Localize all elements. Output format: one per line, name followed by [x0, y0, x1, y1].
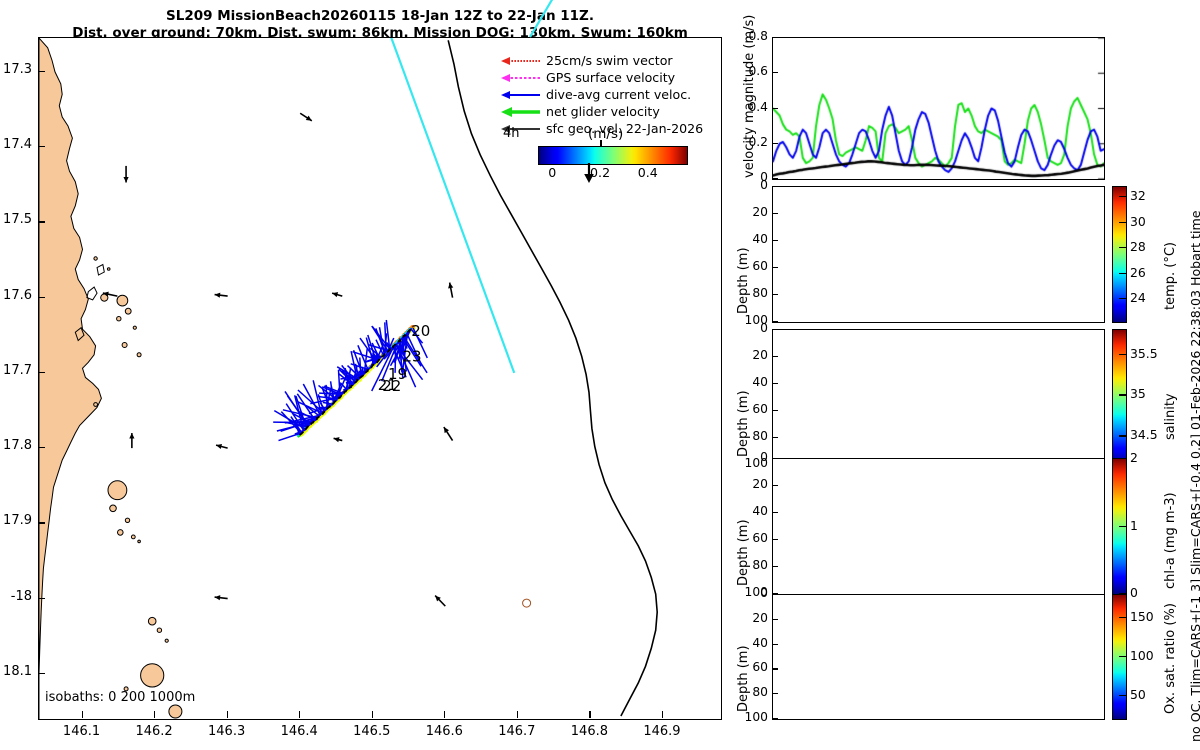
- chlorophyll-y-tickmark: [772, 539, 778, 540]
- geostrophic-velocity-arrow: [123, 166, 128, 183]
- salinity-y-tickmark: [772, 383, 778, 384]
- map-colorbar-tick: 0.4: [635, 165, 661, 180]
- map-y-tick: 17.8: [0, 438, 32, 453]
- salinity-y-tick: 80: [735, 429, 768, 443]
- map-y-tick: 17.5: [0, 212, 32, 227]
- island: [125, 308, 131, 314]
- map-y-tickmark: [38, 598, 45, 599]
- temperature-y-tick: 60: [735, 259, 768, 273]
- track-day-label: 22: [382, 377, 401, 395]
- legend-arrow-icon: [500, 71, 542, 85]
- island: [118, 530, 124, 536]
- map-x-tick: 146.8: [557, 724, 621, 739]
- island: [108, 481, 127, 500]
- temperature-y-tickmark: [772, 213, 778, 214]
- oxygen-y-tick: 100: [735, 710, 768, 724]
- oxygen-section-panel[interactable]: [772, 594, 1105, 720]
- salinity-y-axis-label: Depth (m): [736, 390, 751, 457]
- map-x-tickmark: [154, 711, 155, 718]
- salinity-colorbar-tickmark: [1119, 354, 1126, 355]
- oxygen-colorbar-tickmark: [1119, 695, 1126, 696]
- velocity-y-tickmark: [772, 72, 778, 73]
- map-y-tick: -18: [0, 589, 32, 604]
- island: [137, 353, 141, 357]
- temperature-y-tick: 20: [735, 205, 768, 219]
- oxygen-y-axis-label: Depth (m): [736, 645, 751, 712]
- island: [117, 295, 128, 306]
- coastal-inlet: [97, 264, 104, 275]
- velocity-y-tick: 0.4: [735, 100, 768, 114]
- chlorophyll-colorbar-tickmark: [1119, 526, 1126, 527]
- chlorophyll-colorbar-tickmark: [1119, 458, 1126, 459]
- salinity-y-tickmark: [772, 329, 778, 330]
- salinity-y-tickmark: [772, 410, 778, 411]
- processing-note: no QC. Tlim=CARS+[-1 3] Slim=CARS+[-0.4 …: [1188, 211, 1200, 742]
- temperature-colorbar[interactable]: [1112, 186, 1127, 323]
- map-x-tick: 146.1: [50, 724, 114, 739]
- map-y-tick: 17.4: [0, 137, 32, 152]
- chlorophyll-y-tick: 0: [735, 450, 768, 464]
- salinity-y-tick: 60: [735, 402, 768, 416]
- salinity-colorbar-tickmark: [1119, 394, 1126, 395]
- figure-title-line1: SL209 MissionBeach20260115 18-Jan 12Z to…: [0, 8, 760, 24]
- velocity-timeseries-panel[interactable]: [772, 37, 1105, 180]
- legend-entry: net glider velocity: [500, 103, 696, 120]
- island: [131, 535, 135, 539]
- legend-arrow-icon: [500, 54, 542, 68]
- chlorophyll-y-tick: 40: [735, 504, 768, 518]
- oxygen-y-tickmark: [772, 693, 778, 694]
- chlorophyll-y-tick: 60: [735, 531, 768, 545]
- legend-time-scale: 4h: [503, 126, 520, 141]
- sst-front-line: [387, 38, 514, 373]
- salinity-y-tick: 20: [735, 348, 768, 362]
- legend-arrow-icon: [500, 105, 542, 119]
- salinity-colorbar-tick: 35: [1130, 386, 1146, 401]
- legend-arrow-icon: [500, 88, 542, 102]
- track-day-label: 23: [403, 348, 422, 366]
- chlorophyll-colorbar-tick: 1: [1130, 518, 1138, 533]
- salinity-colorbar-tick: 34.5: [1130, 427, 1158, 442]
- oxygen-colorbar-tickmark: [1119, 617, 1126, 618]
- velocity-y-tickmark: [772, 108, 778, 109]
- temperature-colorbar-tick: 26: [1130, 265, 1146, 280]
- chlorophyll-colorbar-tick: 0: [1130, 585, 1138, 600]
- island: [138, 540, 141, 543]
- legend-entry-label: 25cm/s swim vector: [546, 53, 673, 68]
- temperature-section-panel[interactable]: [772, 186, 1105, 323]
- chlorophyll-colorbar-tick: 2: [1130, 450, 1138, 465]
- temperature-colorbar-tick: 24: [1130, 290, 1146, 305]
- temperature-colorbar-tick: 28: [1130, 239, 1146, 254]
- legend-entry-label: GPS surface velocity: [546, 70, 675, 85]
- chlorophyll-y-tick: 80: [735, 558, 768, 572]
- map-y-tick: 17.3: [0, 62, 32, 77]
- island: [157, 628, 161, 632]
- legend-entry: GPS surface velocity: [500, 69, 696, 86]
- coastal-inlet: [87, 287, 97, 300]
- temperature-colorbar-tickmark: [1119, 222, 1126, 223]
- salinity-y-tick: 0: [735, 321, 768, 335]
- salinity-colorbar-label: salinity: [1163, 393, 1178, 440]
- island: [94, 403, 98, 407]
- temperature-colorbar-tickmark: [1119, 298, 1126, 299]
- map-y-tickmark: [38, 146, 45, 147]
- oxygen-y-tickmark: [772, 619, 778, 620]
- oxygen-y-tick: 80: [735, 685, 768, 699]
- oxygen-y-tick: 60: [735, 660, 768, 674]
- velocity-y-tick: 0.6: [735, 64, 768, 78]
- map-x-tick: 146.4: [267, 724, 331, 739]
- map-y-tick: 17.6: [0, 288, 32, 303]
- map-x-tick: 146.6: [412, 724, 476, 739]
- geostrophic-velocity-arrow: [332, 292, 342, 297]
- map-x-tickmark: [227, 711, 228, 718]
- mainland-coastline: [39, 38, 101, 719]
- map-x-tickmark: [372, 711, 373, 718]
- velocity-y-tick: 0.8: [735, 29, 768, 43]
- geostrophic-velocity-arrow: [334, 437, 343, 442]
- map-y-tickmark: [38, 221, 45, 222]
- map-x-tickmark: [517, 711, 518, 718]
- temperature-colorbar-tickmark: [1119, 273, 1126, 274]
- island: [165, 639, 168, 642]
- velocity-y-tick: 0.2: [735, 135, 768, 149]
- oxygen-colorbar-tick: 50: [1130, 687, 1146, 702]
- map-x-tick: 146.5: [340, 724, 404, 739]
- map-colorbar-tick: 0: [539, 165, 565, 180]
- legend-entry-label: net glider velocity: [546, 104, 660, 119]
- temperature-colorbar-tick: 32: [1130, 188, 1146, 203]
- oxygen-colorbar-tick: 100: [1130, 648, 1154, 663]
- salinity-y-tickmark: [772, 437, 778, 438]
- oxygen-y-tickmark: [772, 594, 778, 595]
- legend-entry-label: sfc geo. vel. 22-Jan-2026: [546, 121, 703, 136]
- isobaths-label: isobaths: 0 200 1000m: [45, 690, 195, 705]
- temperature-y-tick: 40: [735, 232, 768, 246]
- salinity-colorbar[interactable]: [1112, 329, 1127, 466]
- island: [141, 664, 164, 687]
- island: [125, 518, 129, 522]
- legend-entry: dive-avg current veloc.: [500, 86, 696, 103]
- map-y-tickmark: [38, 447, 45, 448]
- map-y-tickmark: [38, 372, 45, 373]
- geostrophic-velocity-arrow: [300, 113, 312, 121]
- legend-units: (m/s): [588, 126, 623, 142]
- map-x-tick: 146.9: [630, 724, 694, 739]
- isobath-contour: [448, 40, 657, 716]
- geostrophic-velocity-arrow: [435, 596, 445, 607]
- temperature-y-tick: 0: [735, 178, 768, 192]
- map-y-tick: 17.9: [0, 513, 32, 528]
- temperature-y-tick: 80: [735, 286, 768, 300]
- map-y-tickmark: [38, 71, 45, 72]
- oxygen-y-tickmark: [772, 668, 778, 669]
- map-x-tickmark: [82, 711, 83, 718]
- map-x-tickmark: [589, 711, 590, 718]
- island: [117, 317, 121, 321]
- map-y-tickmark: [38, 522, 45, 523]
- map-legend: 25cm/s swim vectorGPS surface velocitydi…: [500, 52, 696, 137]
- temperature-colorbar-tick: 30: [1130, 214, 1146, 229]
- temperature-y-tickmark: [772, 321, 778, 322]
- geostrophic-velocity-arrow: [215, 595, 228, 600]
- island: [169, 705, 182, 718]
- velocity-y-tickmark: [772, 143, 778, 144]
- island: [148, 617, 156, 625]
- chlorophyll-y-axis-label: Depth (m): [736, 519, 751, 586]
- island: [133, 326, 136, 329]
- map-y-tickmark: [38, 673, 45, 674]
- temperature-colorbar-label: temp. (°C): [1163, 242, 1178, 310]
- chlorophyll-y-tickmark: [772, 566, 778, 567]
- figure-root: SL209 MissionBeach20260115 18-Jan 12Z to…: [0, 0, 1200, 750]
- map-x-tick: 146.3: [195, 724, 259, 739]
- oxygen-colorbar-tickmark: [1119, 656, 1126, 657]
- salinity-colorbar-tick: 35.5: [1130, 346, 1158, 361]
- temperature-colorbar-tickmark: [1119, 247, 1126, 248]
- island: [107, 268, 110, 271]
- temperature-y-tickmark: [772, 267, 778, 268]
- chlorophyll-y-tickmark: [772, 512, 778, 513]
- oxygen-y-tick: 0: [735, 586, 768, 600]
- geostrophic-velocity-arrow: [129, 433, 134, 448]
- legend-entry: 25cm/s swim vector: [500, 52, 696, 69]
- temperature-y-tickmark: [772, 240, 778, 241]
- chlorophyll-y-tick: 20: [735, 477, 768, 491]
- map-y-tickmark: [38, 297, 45, 298]
- geostrophic-velocity-arrow: [216, 444, 228, 449]
- colorbar-marker-arrow: [581, 163, 603, 187]
- oxygen-y-tick: 40: [735, 636, 768, 650]
- salinity-y-tickmark: [772, 356, 778, 357]
- chlorophyll-y-tickmark: [772, 458, 778, 459]
- island: [110, 505, 117, 512]
- chlorophyll-y-tickmark: [772, 485, 778, 486]
- salinity-y-tick: 40: [735, 375, 768, 389]
- temperature-y-axis-label: Depth (m): [736, 247, 751, 314]
- map-y-tick: 17.7: [0, 363, 32, 378]
- velocity-y-tickmark: [772, 178, 778, 179]
- salinity-section-panel[interactable]: [772, 329, 1105, 466]
- temperature-colorbar-tickmark: [1119, 196, 1126, 197]
- map-x-tickmark: [662, 711, 663, 718]
- oxygen-colorbar-tick: 150: [1130, 609, 1154, 624]
- isobath-ring: [523, 599, 531, 607]
- geostrophic-velocity-arrow: [448, 283, 453, 298]
- salinity-colorbar-tickmark: [1119, 435, 1126, 436]
- map-x-tickmark: [299, 711, 300, 718]
- oxygen-y-tick: 20: [735, 611, 768, 625]
- chlorophyll-section-panel[interactable]: [772, 458, 1105, 595]
- chlorophyll-colorbar-label: chl-a (mg m-3): [1163, 492, 1178, 589]
- map-x-tickmark: [444, 711, 445, 718]
- map-colorbar-tickmark: [600, 140, 602, 147]
- temperature-y-tickmark: [772, 294, 778, 295]
- geostrophic-velocity-arrow: [215, 293, 228, 298]
- oxygen-y-tickmark: [772, 718, 778, 719]
- oxygen-y-tickmark: [772, 644, 778, 645]
- velocity-y-tickmark: [772, 37, 778, 38]
- oxygen-colorbar-label: Ox. sat. ratio (%): [1163, 603, 1178, 714]
- legend-entry-label: dive-avg current veloc.: [546, 87, 691, 102]
- map-colorbar[interactable]: [538, 146, 688, 165]
- island: [94, 257, 97, 260]
- geostrophic-velocity-arrow: [444, 427, 453, 441]
- temperature-y-tickmark: [772, 186, 778, 187]
- map-x-tick: 146.2: [122, 724, 186, 739]
- track-day-label: 20: [411, 322, 430, 340]
- map-y-tick: 18.1: [0, 664, 32, 679]
- map-x-tick: 146.7: [485, 724, 549, 739]
- island: [122, 343, 127, 348]
